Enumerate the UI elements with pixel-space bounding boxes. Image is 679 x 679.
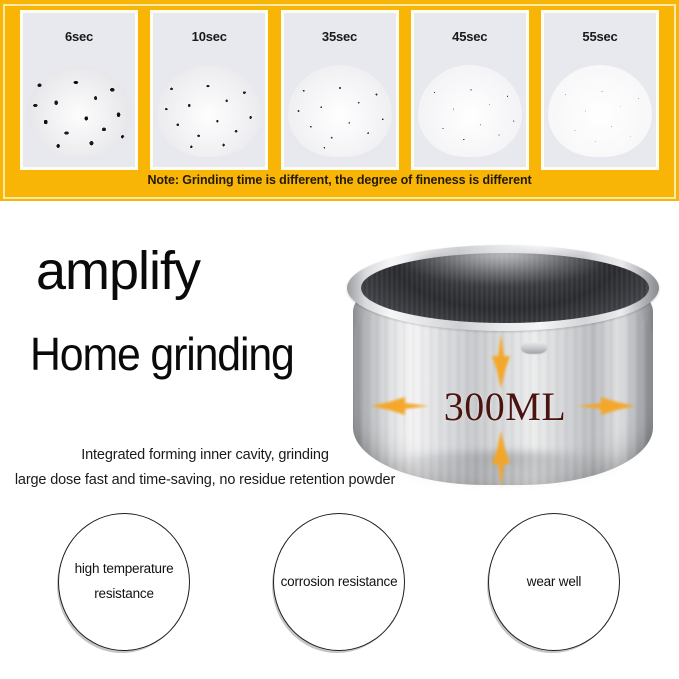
feature-circle-wear-well: wear well — [488, 513, 620, 651]
grind-sample-panel: 45sec — [411, 10, 529, 170]
feature-circle-group: high temperature resistance corrosion re… — [0, 511, 679, 679]
feature-circle-label: corrosion resistance — [277, 570, 401, 595]
brand-word: amplify — [36, 244, 200, 298]
feature-label-line-1: high temperature — [75, 561, 174, 576]
bowl-spout-dent — [521, 341, 547, 354]
grind-sample-panel: 10sec — [150, 10, 268, 170]
feature-label-line-1: wear well — [527, 574, 581, 589]
bowl-rim — [347, 245, 659, 331]
product-section: amplify Home grinding Integrated forming… — [0, 201, 679, 679]
feature-label-line-2: resistance — [94, 586, 154, 601]
powder-pile-image — [157, 65, 261, 157]
page-headline: Home grinding — [30, 331, 294, 377]
powder-pile-image — [418, 65, 522, 157]
bowl-volume-label: 300ML — [345, 383, 665, 430]
feature-circle-label: wear well — [492, 570, 616, 595]
bowl-cavity-highlight — [403, 249, 603, 283]
grind-sample-label: 35sec — [284, 29, 396, 44]
grind-sample-panel: 35sec — [281, 10, 399, 170]
grind-sample-strip: 6sec 10sec 35sec 45sec 55sec — [20, 10, 659, 170]
powder-pile-image — [548, 65, 652, 157]
grind-sample-label: 6sec — [23, 29, 135, 44]
feature-label-line-1: corrosion resistance — [281, 574, 398, 589]
grind-sample-label: 10sec — [153, 29, 265, 44]
powder-pile-image — [288, 65, 392, 157]
grind-sample-label: 55sec — [544, 29, 656, 44]
feature-circle-high-temperature-resistance: high temperature resistance — [58, 513, 190, 651]
grind-sample-panel: 55sec — [541, 10, 659, 170]
grind-sample-label: 45sec — [414, 29, 526, 44]
arrow-up-icon — [488, 431, 514, 487]
arrow-down-icon — [488, 333, 514, 389]
banner-note-text: Note: Grinding time is different, the de… — [0, 173, 679, 187]
stainless-steel-bowl: 300ML — [345, 245, 665, 495]
feature-circle-label: high temperature resistance — [62, 557, 186, 607]
grind-sample-panel: 6sec — [20, 10, 138, 170]
powder-pile-image — [27, 65, 131, 157]
feature-circle-corrosion-resistance: corrosion resistance — [273, 513, 405, 651]
grinding-time-banner: 6sec 10sec 35sec 45sec 55sec Note: Grind… — [0, 0, 679, 201]
